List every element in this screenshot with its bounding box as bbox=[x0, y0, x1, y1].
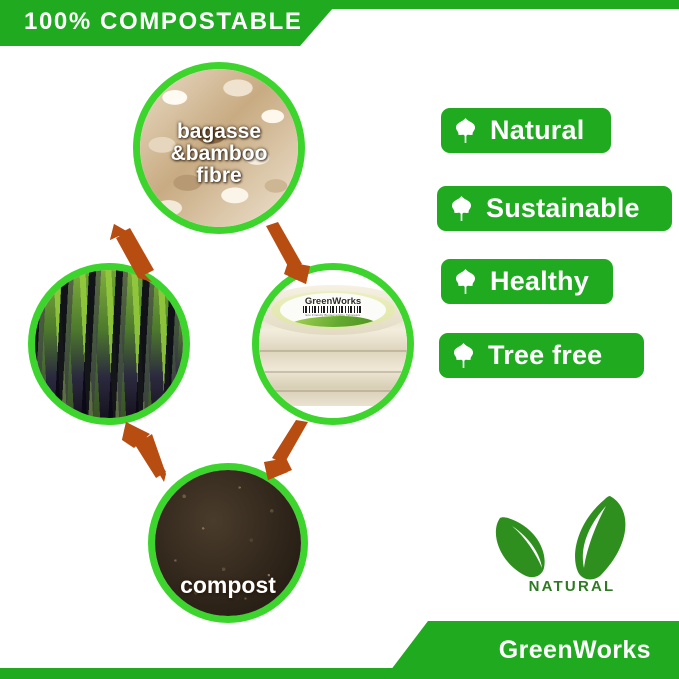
arrow-compost-to-sugarcane bbox=[120, 420, 172, 484]
barcode-icon bbox=[303, 306, 363, 313]
feature-badge-tree-free[interactable]: Tree free bbox=[439, 333, 644, 378]
leaf-icon bbox=[449, 195, 474, 222]
feature-badge-label: Natural bbox=[490, 115, 584, 146]
product-image: GreenWorks Eco Friendly Biodegradable Ta… bbox=[259, 270, 407, 418]
footer-brand: GreenWorks bbox=[499, 636, 651, 665]
feature-badge-healthy[interactable]: Healthy bbox=[441, 259, 613, 304]
feature-badge-sustainable[interactable]: Sustainable bbox=[437, 186, 672, 231]
feature-badge-label: Healthy bbox=[490, 266, 589, 297]
two-leaves-icon bbox=[482, 492, 662, 584]
bowl-seam-3 bbox=[252, 390, 414, 392]
cycle-node-sugarcane bbox=[28, 263, 190, 425]
leaf-icon bbox=[453, 117, 478, 144]
bagasse-image bbox=[140, 69, 298, 227]
feature-badge-label: Sustainable bbox=[486, 193, 640, 224]
cycle-node-product: GreenWorks Eco Friendly Biodegradable Ta… bbox=[252, 263, 414, 425]
leaf-icon bbox=[451, 342, 476, 369]
infographic-canvas: 100% COMPOSTABLE bagasse &bamboo fibre G… bbox=[0, 0, 679, 679]
logo-caption: NATURAL bbox=[482, 578, 662, 595]
product-label-leaf-icon bbox=[288, 316, 377, 327]
product-label: GreenWorks Eco Friendly Biodegradable Ta… bbox=[280, 293, 387, 327]
feature-badge-label: Tree free bbox=[488, 340, 602, 371]
leaf-icon bbox=[453, 268, 478, 295]
arrow-sugarcane-to-bagasse bbox=[108, 222, 160, 284]
header-title: 100% COMPOSTABLE bbox=[24, 8, 303, 36]
brand-logo: NATURAL bbox=[482, 492, 662, 607]
sugarcane-image bbox=[35, 270, 183, 418]
arrow-bagasse-to-product bbox=[258, 222, 312, 286]
cycle-node-bagasse: bagasse &bamboo fibre bbox=[133, 62, 305, 234]
bowl-seam-2 bbox=[252, 371, 414, 373]
compost-image bbox=[155, 470, 301, 616]
cycle-node-compost: compost bbox=[148, 463, 308, 623]
feature-badge-natural[interactable]: Natural bbox=[441, 108, 611, 153]
arrow-product-to-compost bbox=[264, 420, 318, 484]
bowl-seam-1 bbox=[252, 350, 414, 352]
